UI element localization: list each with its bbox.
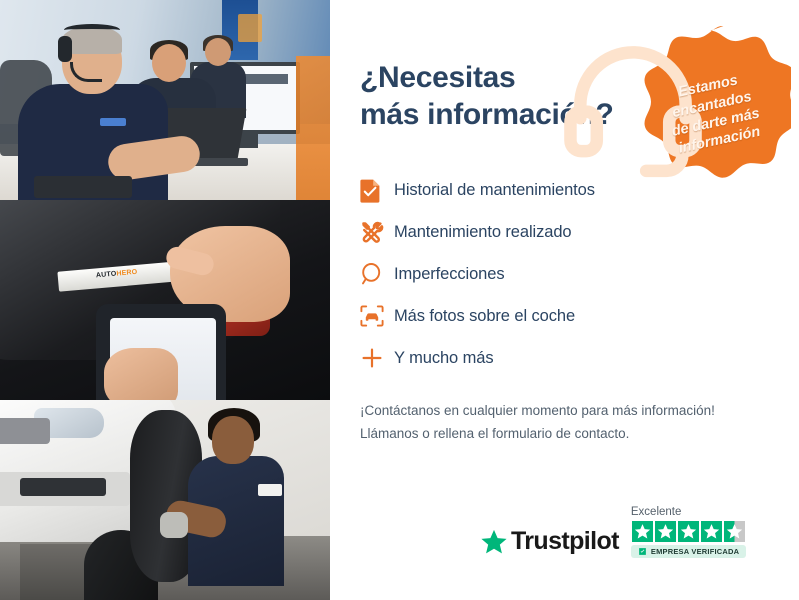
- verified-check-icon: [638, 547, 647, 556]
- feature-label: Más fotos sobre el coche: [394, 307, 575, 326]
- feature-label: Mantenimiento realizado: [394, 223, 571, 242]
- star-icon: [680, 523, 697, 540]
- star-icon: [726, 523, 743, 540]
- contact-line-1: ¡Contáctanos en cualquier momento para m…: [360, 399, 765, 422]
- star-icon: [634, 523, 651, 540]
- content-panel: ¿Necesitas más información? Estamos enca…: [330, 0, 799, 600]
- star-filled-2: [655, 521, 676, 542]
- feature-item-fotos: Más fotos sobre el coche: [360, 297, 765, 335]
- star-filled-3: [678, 521, 699, 542]
- tools-cross-icon: [360, 220, 394, 244]
- trustpilot-star-icon: [480, 528, 508, 556]
- star-icon: [657, 523, 674, 540]
- plus-icon: [360, 346, 394, 370]
- trustpilot-logo[interactable]: Trustpilot: [480, 527, 619, 558]
- contact-copy: ¡Contáctanos en cualquier momento para m…: [360, 399, 765, 445]
- promo-badge: Estamos encantados de darte más informac…: [633, 26, 791, 184]
- feature-label: Y mucho más: [394, 349, 493, 368]
- trustpilot-rating-block: Excelente: [631, 506, 746, 558]
- feature-list: Historial de mantenimientos Mantenimient…: [360, 171, 765, 377]
- feature-item-mantenimiento: Mantenimiento realizado: [360, 213, 765, 251]
- trustpilot-wordmark: Trustpilot: [511, 527, 619, 556]
- star-filled-4: [701, 521, 722, 542]
- tyre-service-photo: [0, 400, 330, 600]
- info-banner: AUTOHERO ¿Necesitas más información?: [0, 0, 799, 600]
- contact-line-2: Llámanos o rellena el formulario de cont…: [360, 422, 765, 445]
- document-check-icon: [360, 178, 394, 203]
- verified-business-label: EMPRESA VERIFICADA: [651, 547, 739, 556]
- car-viewfinder-icon: [360, 305, 394, 327]
- trustpilot-widget[interactable]: Trustpilot Excelente: [480, 506, 746, 558]
- star-filled-1: [632, 521, 653, 542]
- trustpilot-stars: [632, 521, 745, 542]
- verified-business-badge: EMPRESA VERIFICADA: [631, 545, 746, 558]
- promo-badge-text: Estamos encantados de darte más informac…: [618, 11, 799, 198]
- trustpilot-rating-label: Excelente: [631, 506, 682, 518]
- feature-item-imperfecciones: Imperfecciones: [360, 255, 765, 293]
- star-icon: [703, 523, 720, 540]
- star-half-5: [724, 521, 745, 542]
- photo-column: AUTOHERO: [0, 0, 330, 600]
- car-inspection-photo: AUTOHERO: [0, 200, 330, 400]
- feature-item-mucho-mas: Y mucho más: [360, 339, 765, 377]
- call-center-agents-photo: [0, 0, 330, 200]
- magnifier-icon: [360, 262, 394, 286]
- feature-label: Imperfecciones: [394, 265, 504, 284]
